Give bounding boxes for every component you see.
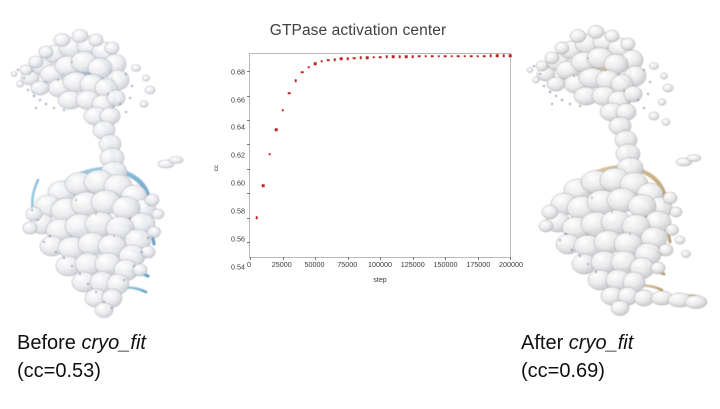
data-point <box>437 55 440 58</box>
data-point <box>496 55 499 58</box>
caption-after-line2: (cc=0.69) <box>521 358 633 386</box>
data-point <box>262 185 265 188</box>
y-axis-tick-labels: 0.540.560.580.600.620.640.660.68 <box>219 52 245 284</box>
data-point <box>392 56 395 59</box>
y-tick-mark <box>247 242 250 243</box>
data-point <box>275 129 278 132</box>
y-tick-mark <box>247 120 250 121</box>
data-point <box>418 55 421 58</box>
x-tick-label: 125000 <box>401 260 425 269</box>
caption-before: Before cryo_fit (cc=0.53) <box>17 330 146 385</box>
x-tick-label: 100000 <box>368 260 392 269</box>
plot-area-wrapper: cc 0.540.560.580.600.620.640.660.68 0250… <box>211 52 511 284</box>
data-point <box>483 55 486 58</box>
x-tick-label: 25000 <box>272 260 292 269</box>
data-point <box>431 55 434 58</box>
data-point <box>405 55 408 58</box>
data-point <box>385 56 388 59</box>
data-point <box>411 55 414 58</box>
data-point <box>268 153 271 156</box>
data-point <box>255 217 258 220</box>
molecule-before-panel <box>0 4 206 324</box>
data-point <box>509 55 512 58</box>
y-tick-mark <box>247 71 250 72</box>
data-point <box>333 58 336 61</box>
x-tick-label: 50000 <box>305 260 325 269</box>
x-axis-tick-labels: 0250005000075000100000125000150000175000… <box>249 260 511 272</box>
y-tick-mark <box>247 169 250 170</box>
chart-panel: GTPase activation center cc 0.540.560.58… <box>198 6 518 298</box>
data-point <box>288 92 291 95</box>
chart-title: GTPase activation center <box>198 22 518 40</box>
data-point <box>281 109 284 112</box>
data-point <box>359 57 362 60</box>
data-point <box>320 60 323 63</box>
data-point <box>470 55 473 58</box>
y-tick-label: 0.64 <box>231 123 245 132</box>
data-point <box>314 63 317 66</box>
y-tick-mark <box>247 144 250 145</box>
y-tick-label: 0.58 <box>231 207 245 216</box>
molecule-before-render <box>0 4 206 324</box>
caption-after: After cryo_fit (cc=0.69) <box>521 330 633 385</box>
y-tick-label: 0.66 <box>231 95 245 104</box>
y-tick-mark <box>247 193 250 194</box>
slide-canvas: GTPase activation center cc 0.540.560.58… <box>0 0 720 409</box>
x-tick-label: 150000 <box>434 260 458 269</box>
caption-before-emphasis: cryo_fit <box>81 332 145 354</box>
data-point <box>346 57 349 60</box>
data-point <box>340 58 343 61</box>
x-tick-label: 0 <box>247 260 251 269</box>
y-tick-label: 0.54 <box>231 263 245 272</box>
y-tick-label: 0.62 <box>231 151 245 160</box>
x-tick-label: 175000 <box>466 260 490 269</box>
caption-after-prefix: After <box>521 332 569 354</box>
cryoem-map-before-svg <box>0 4 206 324</box>
data-point <box>353 57 356 60</box>
caption-after-emphasis: cryo_fit <box>569 332 633 354</box>
data-point <box>379 56 382 59</box>
data-point <box>463 55 466 58</box>
data-point <box>294 80 297 83</box>
data-point <box>476 55 479 58</box>
data-point <box>307 66 310 69</box>
cryoem-map-after-svg <box>514 4 720 324</box>
data-point <box>450 55 453 58</box>
data-point <box>398 56 401 59</box>
x-tick-label: 75000 <box>337 260 357 269</box>
x-axis-label: step <box>249 277 511 284</box>
data-point <box>301 71 304 74</box>
caption-before-prefix: Before <box>17 332 81 354</box>
data-point <box>457 55 460 58</box>
data-point <box>489 55 492 58</box>
plot-frame <box>249 53 511 258</box>
data-point <box>327 59 330 62</box>
data-point <box>424 55 427 58</box>
data-point <box>366 56 369 59</box>
molecule-after-render <box>514 4 720 324</box>
y-tick-label: 0.56 <box>231 235 245 244</box>
y-tick-label: 0.60 <box>231 179 245 188</box>
y-tick-label: 0.68 <box>231 67 245 76</box>
molecule-after-panel <box>514 4 720 324</box>
data-point <box>444 55 447 58</box>
y-tick-mark <box>247 96 250 97</box>
data-point <box>502 55 505 58</box>
data-point <box>372 56 375 59</box>
y-tick-mark <box>247 218 250 219</box>
caption-before-line2: (cc=0.53) <box>17 358 146 386</box>
